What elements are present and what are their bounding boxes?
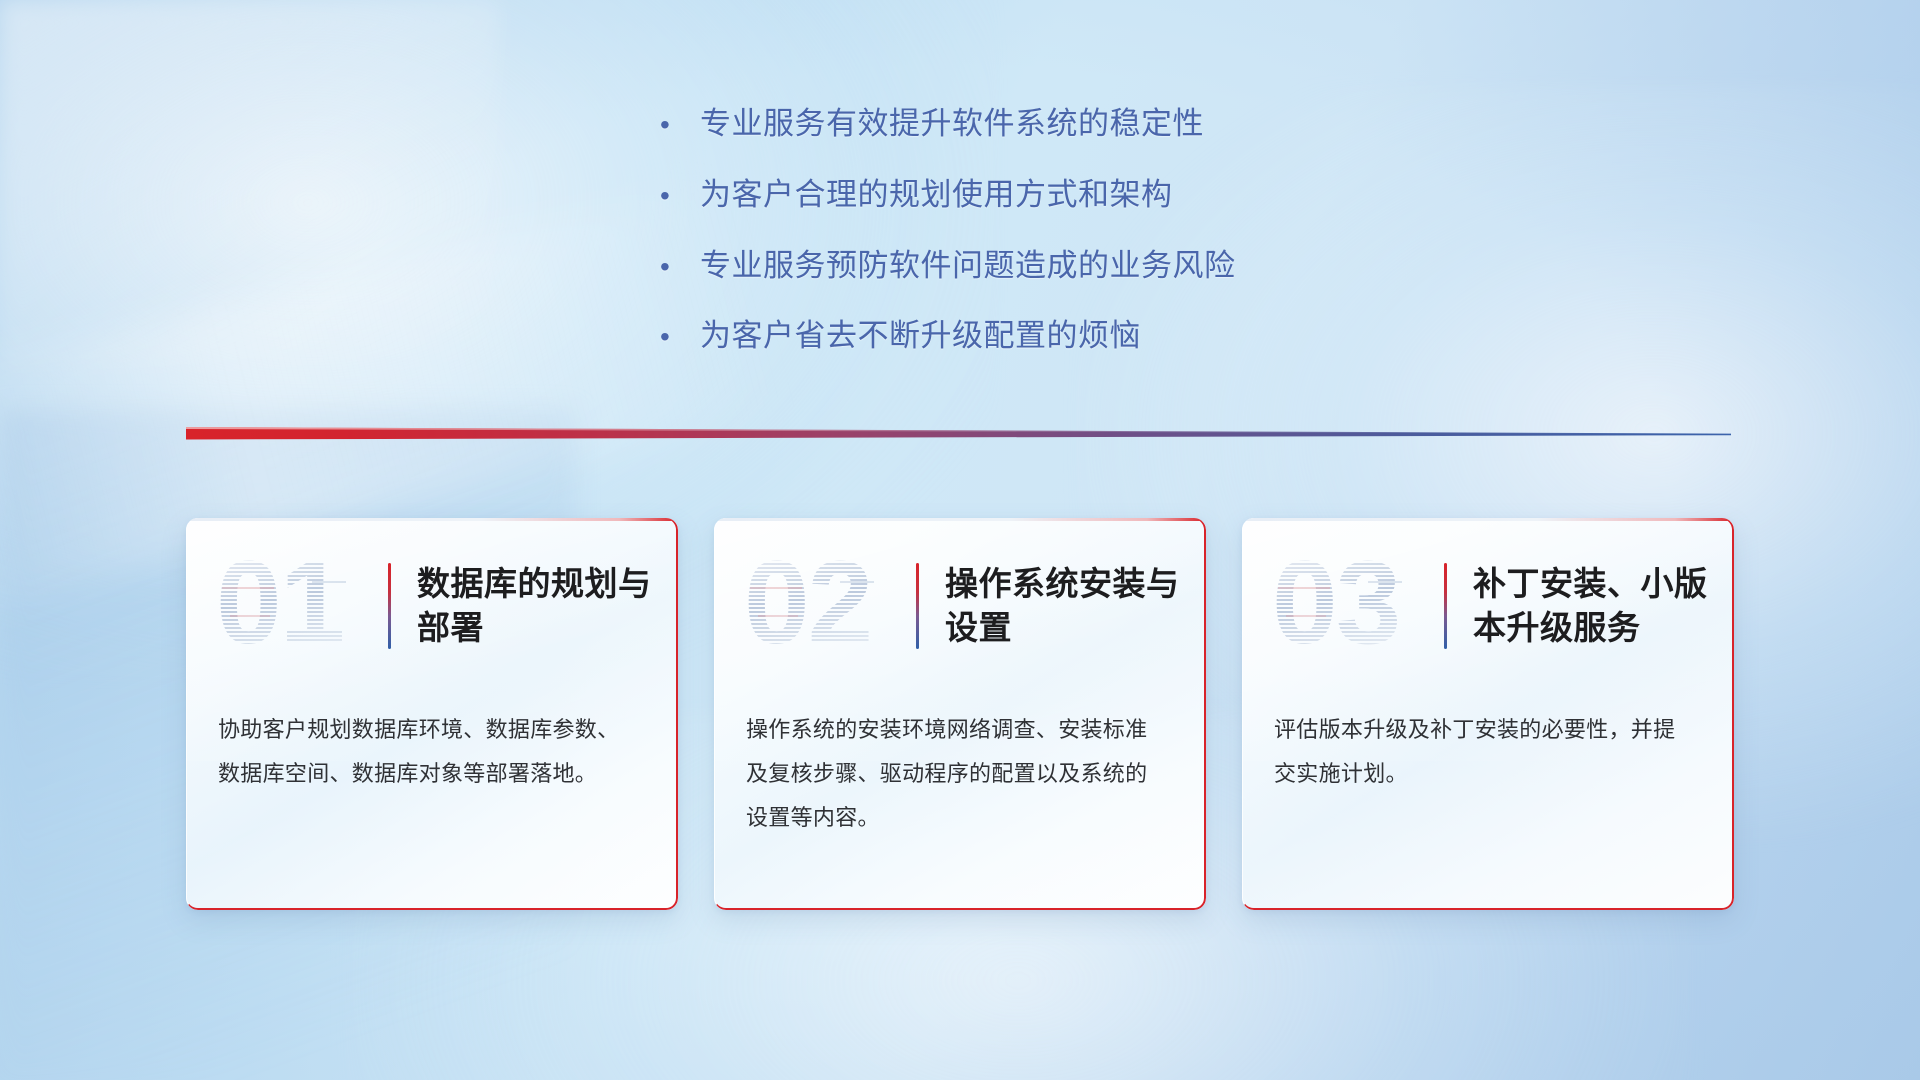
section-divider xyxy=(186,424,1731,446)
card-body: 操作系统的安装环境网络调查、安装标准及复核步骤、驱动程序的配置以及系统的设置等内… xyxy=(714,694,1206,840)
card-body-text: 操作系统的安装环境网络调查、安装标准及复核步骤、驱动程序的配置以及系统的设置等内… xyxy=(746,708,1166,840)
service-card[interactable]: 01 数据库的规划与部署 协助客户规划数据库环境、数据库参数、数据库空间、数据库… xyxy=(186,518,678,910)
card-body: 协助客户规划数据库环境、数据库参数、数据库空间、数据库对象等部署落地。 xyxy=(186,694,678,796)
bullet-text: 专业服务预防软件问题造成的业务风险 xyxy=(700,247,1236,286)
bullet-dot-icon: • xyxy=(660,182,700,210)
card-body-text: 协助客户规划数据库环境、数据库参数、数据库空间、数据库对象等部署落地。 xyxy=(218,708,638,796)
card-title: 数据库的规划与部署 xyxy=(417,562,662,649)
card-body-text: 评估版本升级及补丁安装的必要性，并提交实施计划。 xyxy=(1274,708,1694,796)
bullet-dot-icon: • xyxy=(660,323,700,351)
list-item: • 专业服务有效提升软件系统的稳定性 xyxy=(660,105,1236,144)
svg-text:02: 02 xyxy=(744,551,871,661)
list-item: • 为客户合理的规划使用方式和架构 xyxy=(660,176,1236,215)
svg-text:03: 03 xyxy=(1272,551,1399,661)
service-card-row: 01 数据库的规划与部署 协助客户规划数据库环境、数据库参数、数据库空间、数据库… xyxy=(186,518,1734,918)
card-header: 03 补丁安装、小版本升级服务 xyxy=(1242,518,1734,694)
svg-text:01: 01 xyxy=(216,551,343,661)
card-number-03-icon: 03 xyxy=(1272,551,1432,661)
card-number-02-icon: 02 xyxy=(744,551,904,661)
slide-canvas: • 专业服务有效提升软件系统的稳定性 • 为客户合理的规划使用方式和架构 • 专… xyxy=(0,0,1920,1080)
card-title: 操作系统安装与设置 xyxy=(945,562,1190,649)
card-accent-rule xyxy=(388,563,391,649)
benefits-bullet-list: • 专业服务有效提升软件系统的稳定性 • 为客户合理的规划使用方式和架构 • 专… xyxy=(660,105,1236,388)
bullet-text: 专业服务有效提升软件系统的稳定性 xyxy=(700,105,1204,144)
card-accent-rule xyxy=(1444,563,1447,649)
card-body: 评估版本升级及补丁安装的必要性，并提交实施计划。 xyxy=(1242,694,1734,796)
bullet-dot-icon: • xyxy=(660,253,700,281)
card-header: 02 操作系统安装与设置 xyxy=(714,518,1206,694)
card-title: 补丁安装、小版本升级服务 xyxy=(1473,562,1718,649)
bullet-text: 为客户省去不断升级配置的烦恼 xyxy=(700,317,1141,356)
bullet-text: 为客户合理的规划使用方式和架构 xyxy=(700,176,1173,215)
card-number-01-icon: 01 xyxy=(216,551,376,661)
card-header: 01 数据库的规划与部署 xyxy=(186,518,678,694)
service-card[interactable]: 03 补丁安装、小版本升级服务 评估版本升级及补丁安装的必要性，并提交实施计划。 xyxy=(1242,518,1734,910)
bullet-dot-icon: • xyxy=(660,111,700,139)
service-card[interactable]: 02 操作系统安装与设置 操作系统的安装环境网络调查、安装标准及复核步骤、驱动程… xyxy=(714,518,1206,910)
list-item: • 为客户省去不断升级配置的烦恼 xyxy=(660,317,1236,356)
list-item: • 专业服务预防软件问题造成的业务风险 xyxy=(660,247,1236,286)
card-accent-rule xyxy=(916,563,919,649)
